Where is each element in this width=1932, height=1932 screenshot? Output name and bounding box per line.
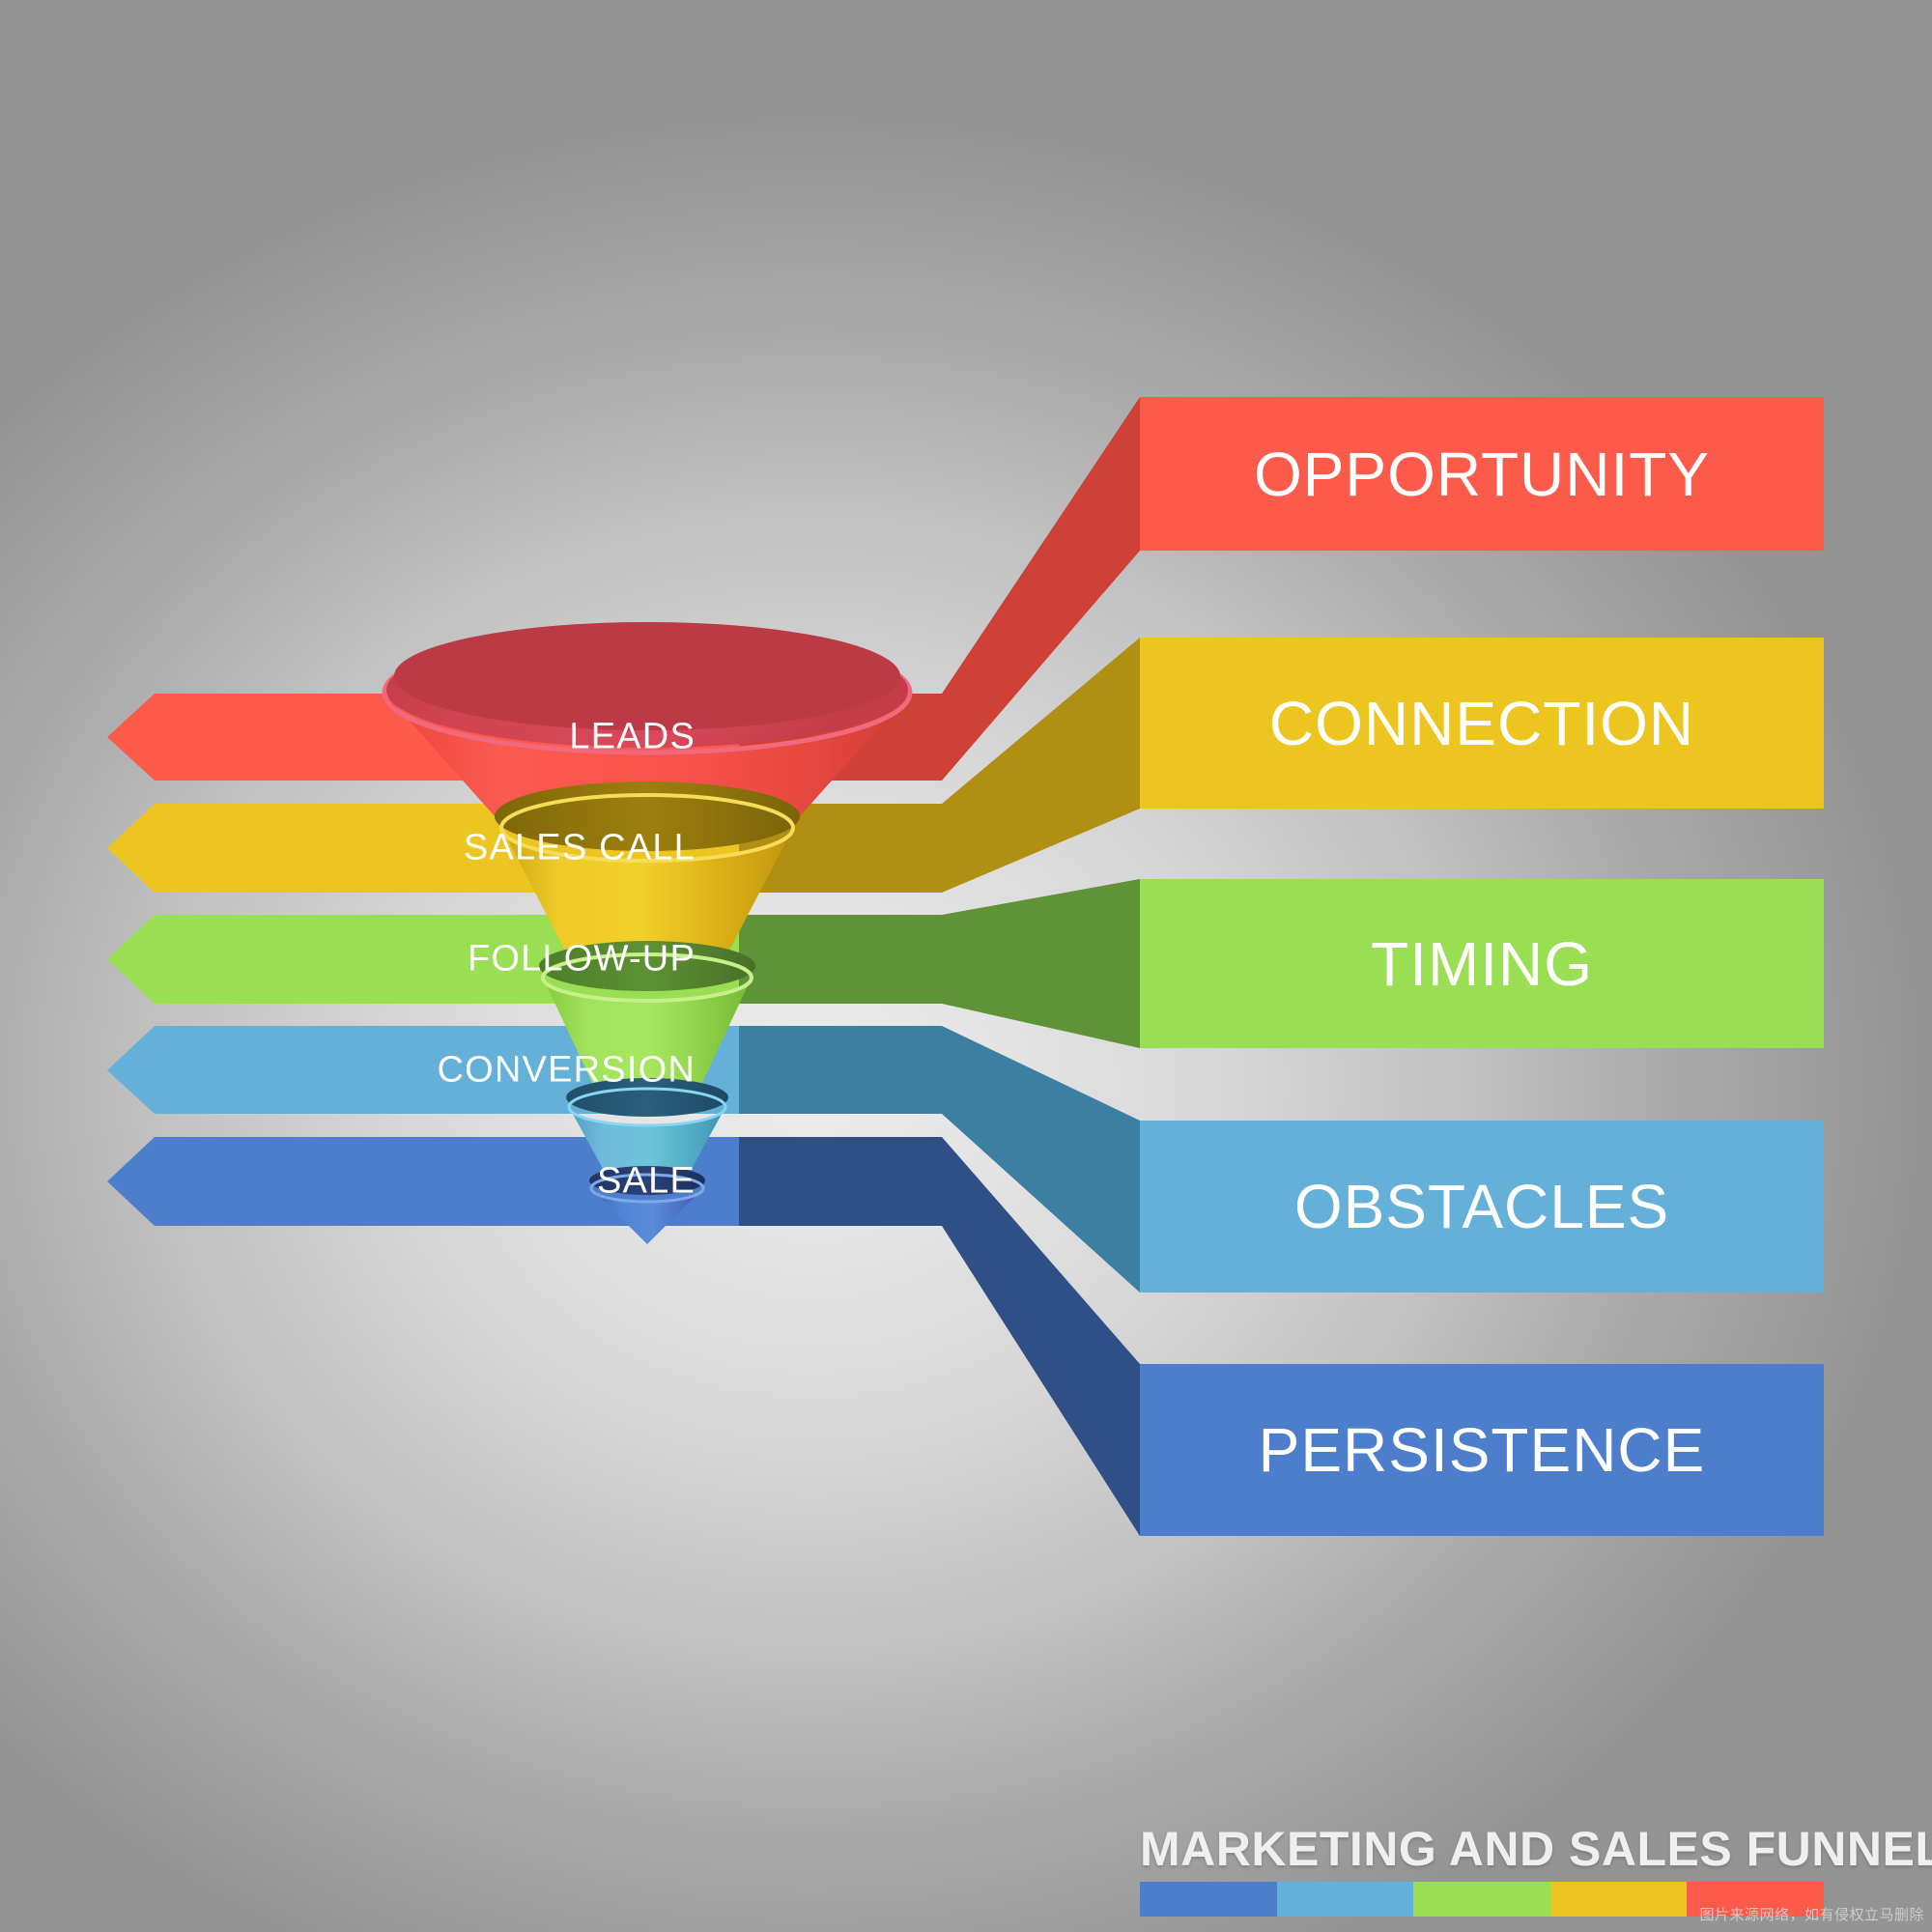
left-arrow-label-sales-call: SALES CALL — [155, 828, 696, 869]
connector-timing — [739, 879, 1140, 1048]
left-arrow-label-conversion: CONVERSION — [155, 1050, 696, 1092]
right-bar-label-connection: CONNECTION — [1140, 688, 1824, 759]
watermark-text: 图片来源网络，如有侵权立马删除 — [1699, 1904, 1924, 1924]
footer-swatch-conversion — [1277, 1882, 1414, 1917]
artboard: LEADS SALES CALL FOLLOW-UP CONVERSION SA… — [0, 0, 1932, 1932]
right-bar-label-timing: TIMING — [1140, 928, 1824, 1000]
left-arrow-label-follow-up: FOLLOW-UP — [155, 939, 696, 980]
right-bar-label-persistence: PERSISTENCE — [1140, 1414, 1824, 1486]
footer-title: MARKETING AND SALES FUNNEL — [1140, 1821, 1824, 1877]
infographic-canvas: LEADS SALES CALL FOLLOW-UP CONVERSION SA… — [0, 0, 1932, 1932]
left-arrow-label-leads: LEADS — [155, 717, 696, 758]
connector-group — [739, 397, 1140, 1536]
footer-swatch-sale — [1140, 1882, 1277, 1917]
right-bar-label-obstacles: OBSTACLES — [1140, 1171, 1824, 1242]
right-bar-label-opportunity: OPPORTUNITY — [1140, 439, 1824, 510]
footer-swatch-follow-up — [1413, 1882, 1550, 1917]
left-arrow-label-sale: SALE — [155, 1161, 696, 1203]
footer-swatch-sales-call — [1550, 1882, 1688, 1917]
funnel-bowl-shadow — [394, 622, 900, 730]
